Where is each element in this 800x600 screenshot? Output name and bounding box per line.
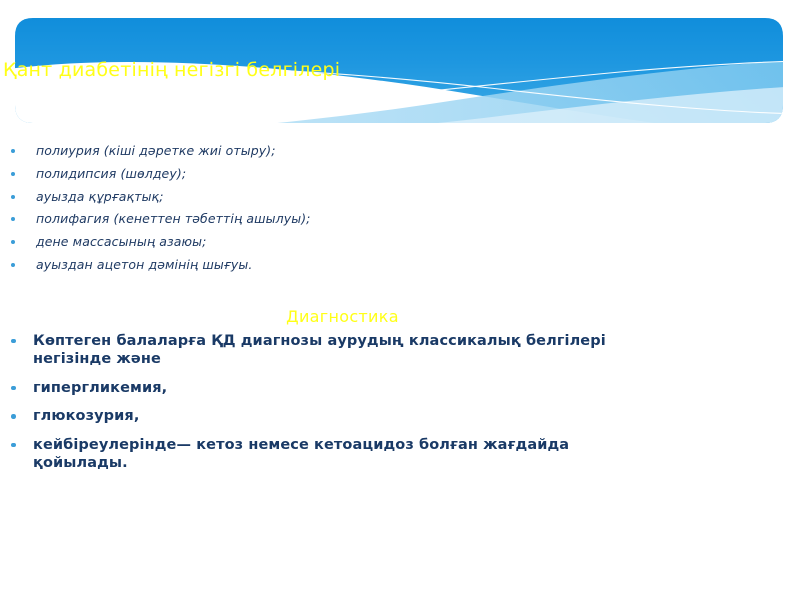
list-item: кейбіреулерінде— кетоз немесе кетоацидоз… <box>0 436 800 473</box>
bullet-dot-icon <box>11 414 16 419</box>
list-item-text: ауызда құрғақтық; <box>36 189 164 204</box>
list-item-text: полидипсия (шөлдеу); <box>36 166 186 181</box>
bullet-dot-icon <box>11 172 15 176</box>
list-item-text: ауыздан ацетон дәмінің шығуы. <box>36 257 252 272</box>
bullet-dot-icon <box>11 149 15 153</box>
slide-body: полиурия (кіші дәретке жиі отыру); полид… <box>0 142 800 483</box>
presentation-slide: Қант диабетінің негізгі белгілері полиур… <box>0 0 800 600</box>
list-item-text: кейбіреулерінде— кетоз немесе кетоацидоз… <box>33 437 569 472</box>
list-item-text: полиурия (кіші дәретке жиі отыру); <box>36 143 276 158</box>
bullet-dot-icon <box>11 386 16 391</box>
list-item-text: Көптеген балаларға ҚД диагнозы аурудың к… <box>33 333 606 368</box>
list-item: полиурия (кіші дәретке жиі отыру); <box>0 142 800 161</box>
bullet-dot-icon <box>11 339 16 344</box>
bullet-dot-icon <box>11 443 16 448</box>
bullet-dot-icon <box>11 240 15 244</box>
list-item-text: глюкозурия, <box>33 408 139 424</box>
symptoms-list: полиурия (кіші дәретке жиі отыру); полид… <box>0 142 800 275</box>
list-item: глюкозурия, <box>0 407 800 426</box>
diagnostics-list: Көптеген балаларға ҚД диагнозы аурудың к… <box>0 332 800 473</box>
list-item: Көптеген балаларға ҚД диагнозы аурудың к… <box>0 332 800 369</box>
list-item: гипергликемия, <box>0 379 800 398</box>
list-item-text: полифагия (кенеттен тәбеттің ашылуы); <box>36 211 311 226</box>
bullet-dot-icon <box>11 195 15 199</box>
list-item-text: гипергликемия, <box>33 380 167 396</box>
list-item: ауыздан ацетон дәмінің шығуы. <box>0 256 800 275</box>
list-item: полифагия (кенеттен тәбеттің ашылуы); <box>0 210 800 229</box>
list-item: ауызда құрғақтық; <box>0 188 800 207</box>
bullet-dot-icon <box>11 263 15 267</box>
list-item: полидипсия (шөлдеу); <box>0 165 800 184</box>
page-title: Қант диабетінің негізгі белгілері <box>3 60 773 82</box>
section-heading-diagnostics: Диагностика <box>0 307 800 326</box>
bullet-dot-icon <box>11 217 15 221</box>
list-item-text: дене массасының азаюы; <box>36 234 206 249</box>
list-item: дене массасының азаюы; <box>0 233 800 252</box>
